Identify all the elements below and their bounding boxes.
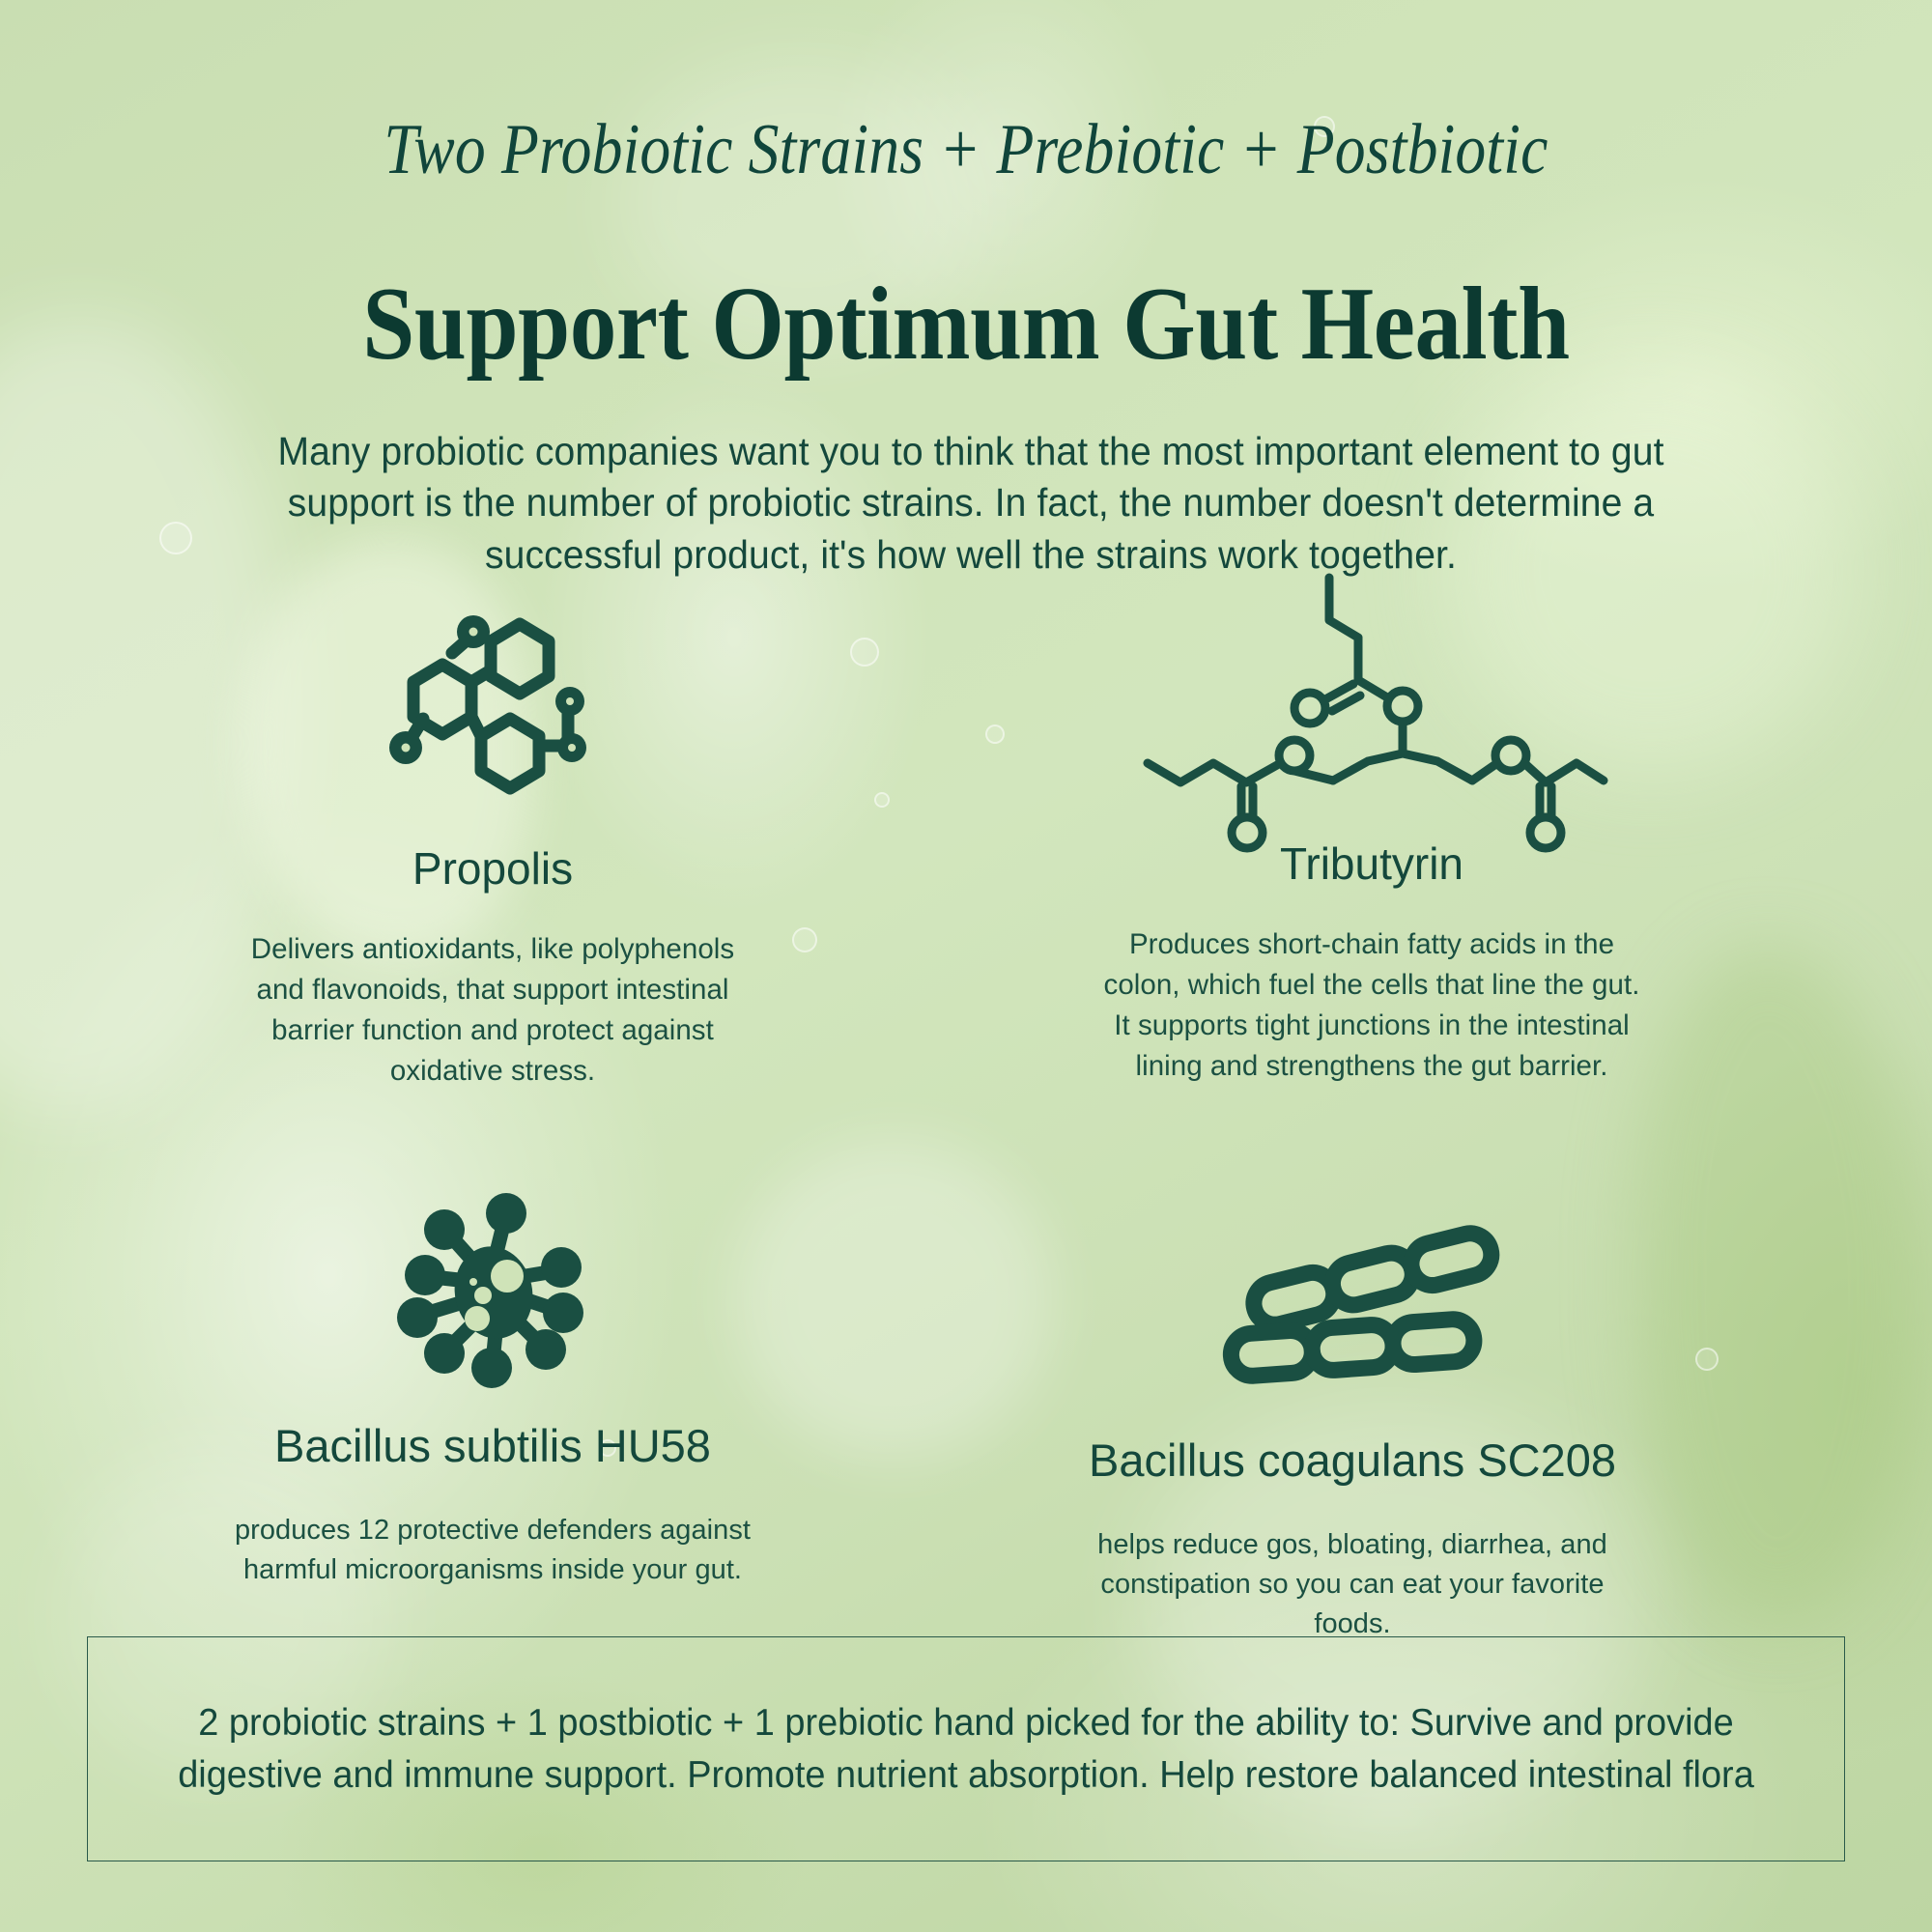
microbe-spore-icon bbox=[155, 1179, 831, 1386]
ingredient-name: Bacillus coagulans SC208 bbox=[966, 1437, 1739, 1483]
ingredient-card-tributyrin: Tributyrin Produces short-chain fatty ac… bbox=[985, 565, 1758, 1087]
tributyrin-structure-icon bbox=[985, 565, 1758, 807]
ingredient-description: Produces short-chain fatty acids in the … bbox=[985, 924, 1758, 1087]
rod-bacteria-chain-icon bbox=[966, 1203, 1739, 1401]
ingredient-card-bacillus-subtilis: Bacillus subtilis HU58 produces 12 prote… bbox=[155, 1179, 831, 1590]
summary-callout-box: 2 probiotic strains + 1 postbiotic + 1 p… bbox=[87, 1636, 1845, 1861]
ingredient-card-bacillus-coagulans: Bacillus coagulans SC208 helps reduce go… bbox=[966, 1203, 1739, 1645]
molecule-hexagons-icon bbox=[155, 599, 831, 811]
ingredient-name: Propolis bbox=[155, 846, 831, 891]
ingredient-card-propolis: Propolis Delivers antioxidants, like pol… bbox=[155, 599, 831, 1092]
ingredient-description: helps reduce gos, bloating, diarrhea, an… bbox=[966, 1525, 1739, 1645]
ingredient-description: Delivers antioxidants, like polyphenols … bbox=[155, 929, 831, 1092]
ingredient-name: Tributyrin bbox=[985, 841, 1758, 886]
callout-text: 2 probiotic strains + 1 postbiotic + 1 p… bbox=[101, 1697, 1832, 1802]
ingredient-name: Bacillus subtilis HU58 bbox=[155, 1423, 831, 1468]
ingredient-description: produces 12 protective defenders against… bbox=[155, 1511, 831, 1590]
